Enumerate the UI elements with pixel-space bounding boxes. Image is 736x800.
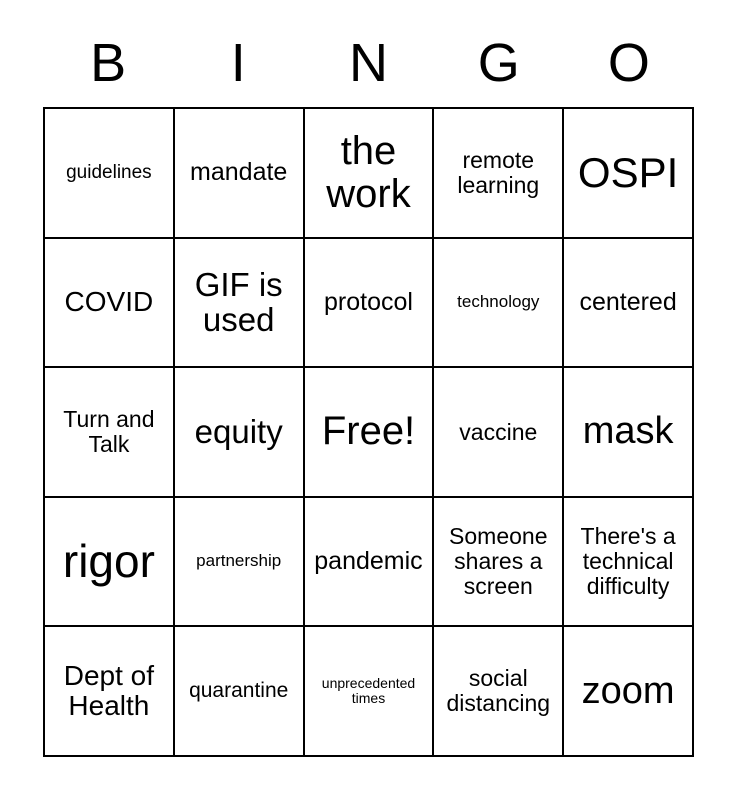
bingo-cell[interactable]: quarantine (175, 627, 305, 757)
bingo-cell[interactable]: remote learning (434, 109, 564, 239)
bingo-header-letter-g: G (434, 28, 564, 98)
bingo-cell[interactable]: technology (434, 239, 564, 369)
bingo-cell[interactable]: zoom (564, 627, 694, 757)
bingo-cell[interactable]: OSPI (564, 109, 694, 239)
bingo-cell[interactable]: pandemic (305, 498, 435, 628)
bingo-cell-label: guidelines (49, 163, 169, 184)
bingo-cell-label: quarantine (179, 680, 299, 703)
bingo-header-letter-i: I (173, 28, 303, 98)
bingo-cell[interactable]: Someone shares a screen (434, 498, 564, 628)
bingo-cell-label: the work (309, 130, 429, 216)
bingo-cell[interactable]: mandate (175, 109, 305, 239)
bingo-cell-label: pandemic (309, 548, 429, 575)
bingo-cell-label: Free! (309, 410, 429, 453)
bingo-cell-label: OSPI (568, 150, 688, 195)
bingo-cell-label: remote learning (438, 148, 558, 198)
bingo-cell-label: Dept of Health (49, 661, 169, 721)
bingo-cell[interactable]: There's a technical difficulty (564, 498, 694, 628)
bingo-cell-label: GIF is used (179, 267, 299, 338)
bingo-cell-label: Turn and Talk (49, 407, 169, 457)
bingo-cell[interactable]: mask (564, 368, 694, 498)
bingo-cell-label: equity (179, 414, 299, 450)
bingo-cell[interactable]: equity (175, 368, 305, 498)
bingo-cell[interactable]: GIF is used (175, 239, 305, 369)
bingo-cell[interactable]: guidelines (45, 109, 175, 239)
bingo-cell[interactable]: centered (564, 239, 694, 369)
bingo-cell[interactable]: COVID (45, 239, 175, 369)
bingo-cell-label: social distancing (438, 666, 558, 716)
bingo-grid: guidelinesmandatethe workremote learning… (43, 107, 694, 757)
bingo-header-letter-o: O (564, 28, 694, 98)
bingo-cell[interactable]: social distancing (434, 627, 564, 757)
bingo-cell[interactable]: Turn and Talk (45, 368, 175, 498)
bingo-cell-label: mandate (179, 159, 299, 186)
bingo-cell-label: centered (568, 289, 688, 316)
bingo-cell-label: protocol (309, 289, 429, 316)
bingo-cell-label: Someone shares a screen (438, 524, 558, 598)
bingo-header-row: B I N G O (43, 28, 694, 98)
bingo-cell-label: mask (568, 411, 688, 452)
bingo-cell[interactable]: the work (305, 109, 435, 239)
bingo-header-letter-b: B (43, 28, 173, 98)
bingo-card: B I N G O guidelinesmandatethe workremot… (0, 0, 736, 800)
bingo-cell-label: unprecedented times (309, 676, 429, 706)
bingo-cell[interactable]: Free! (305, 368, 435, 498)
bingo-cell-label: zoom (568, 671, 688, 712)
bingo-cell-label: partnership (179, 552, 299, 570)
bingo-header-letter-n: N (303, 28, 433, 98)
bingo-cell-label: vaccine (438, 420, 558, 445)
bingo-cell[interactable]: protocol (305, 239, 435, 369)
bingo-cell-label: There's a technical difficulty (568, 524, 688, 598)
bingo-cell[interactable]: rigor (45, 498, 175, 628)
bingo-cell-label: rigor (49, 537, 169, 587)
bingo-cell[interactable]: partnership (175, 498, 305, 628)
bingo-cell-label: technology (438, 293, 558, 311)
bingo-cell[interactable]: unprecedented times (305, 627, 435, 757)
bingo-cell[interactable]: Dept of Health (45, 627, 175, 757)
bingo-cell-label: COVID (49, 287, 169, 317)
bingo-cell[interactable]: vaccine (434, 368, 564, 498)
